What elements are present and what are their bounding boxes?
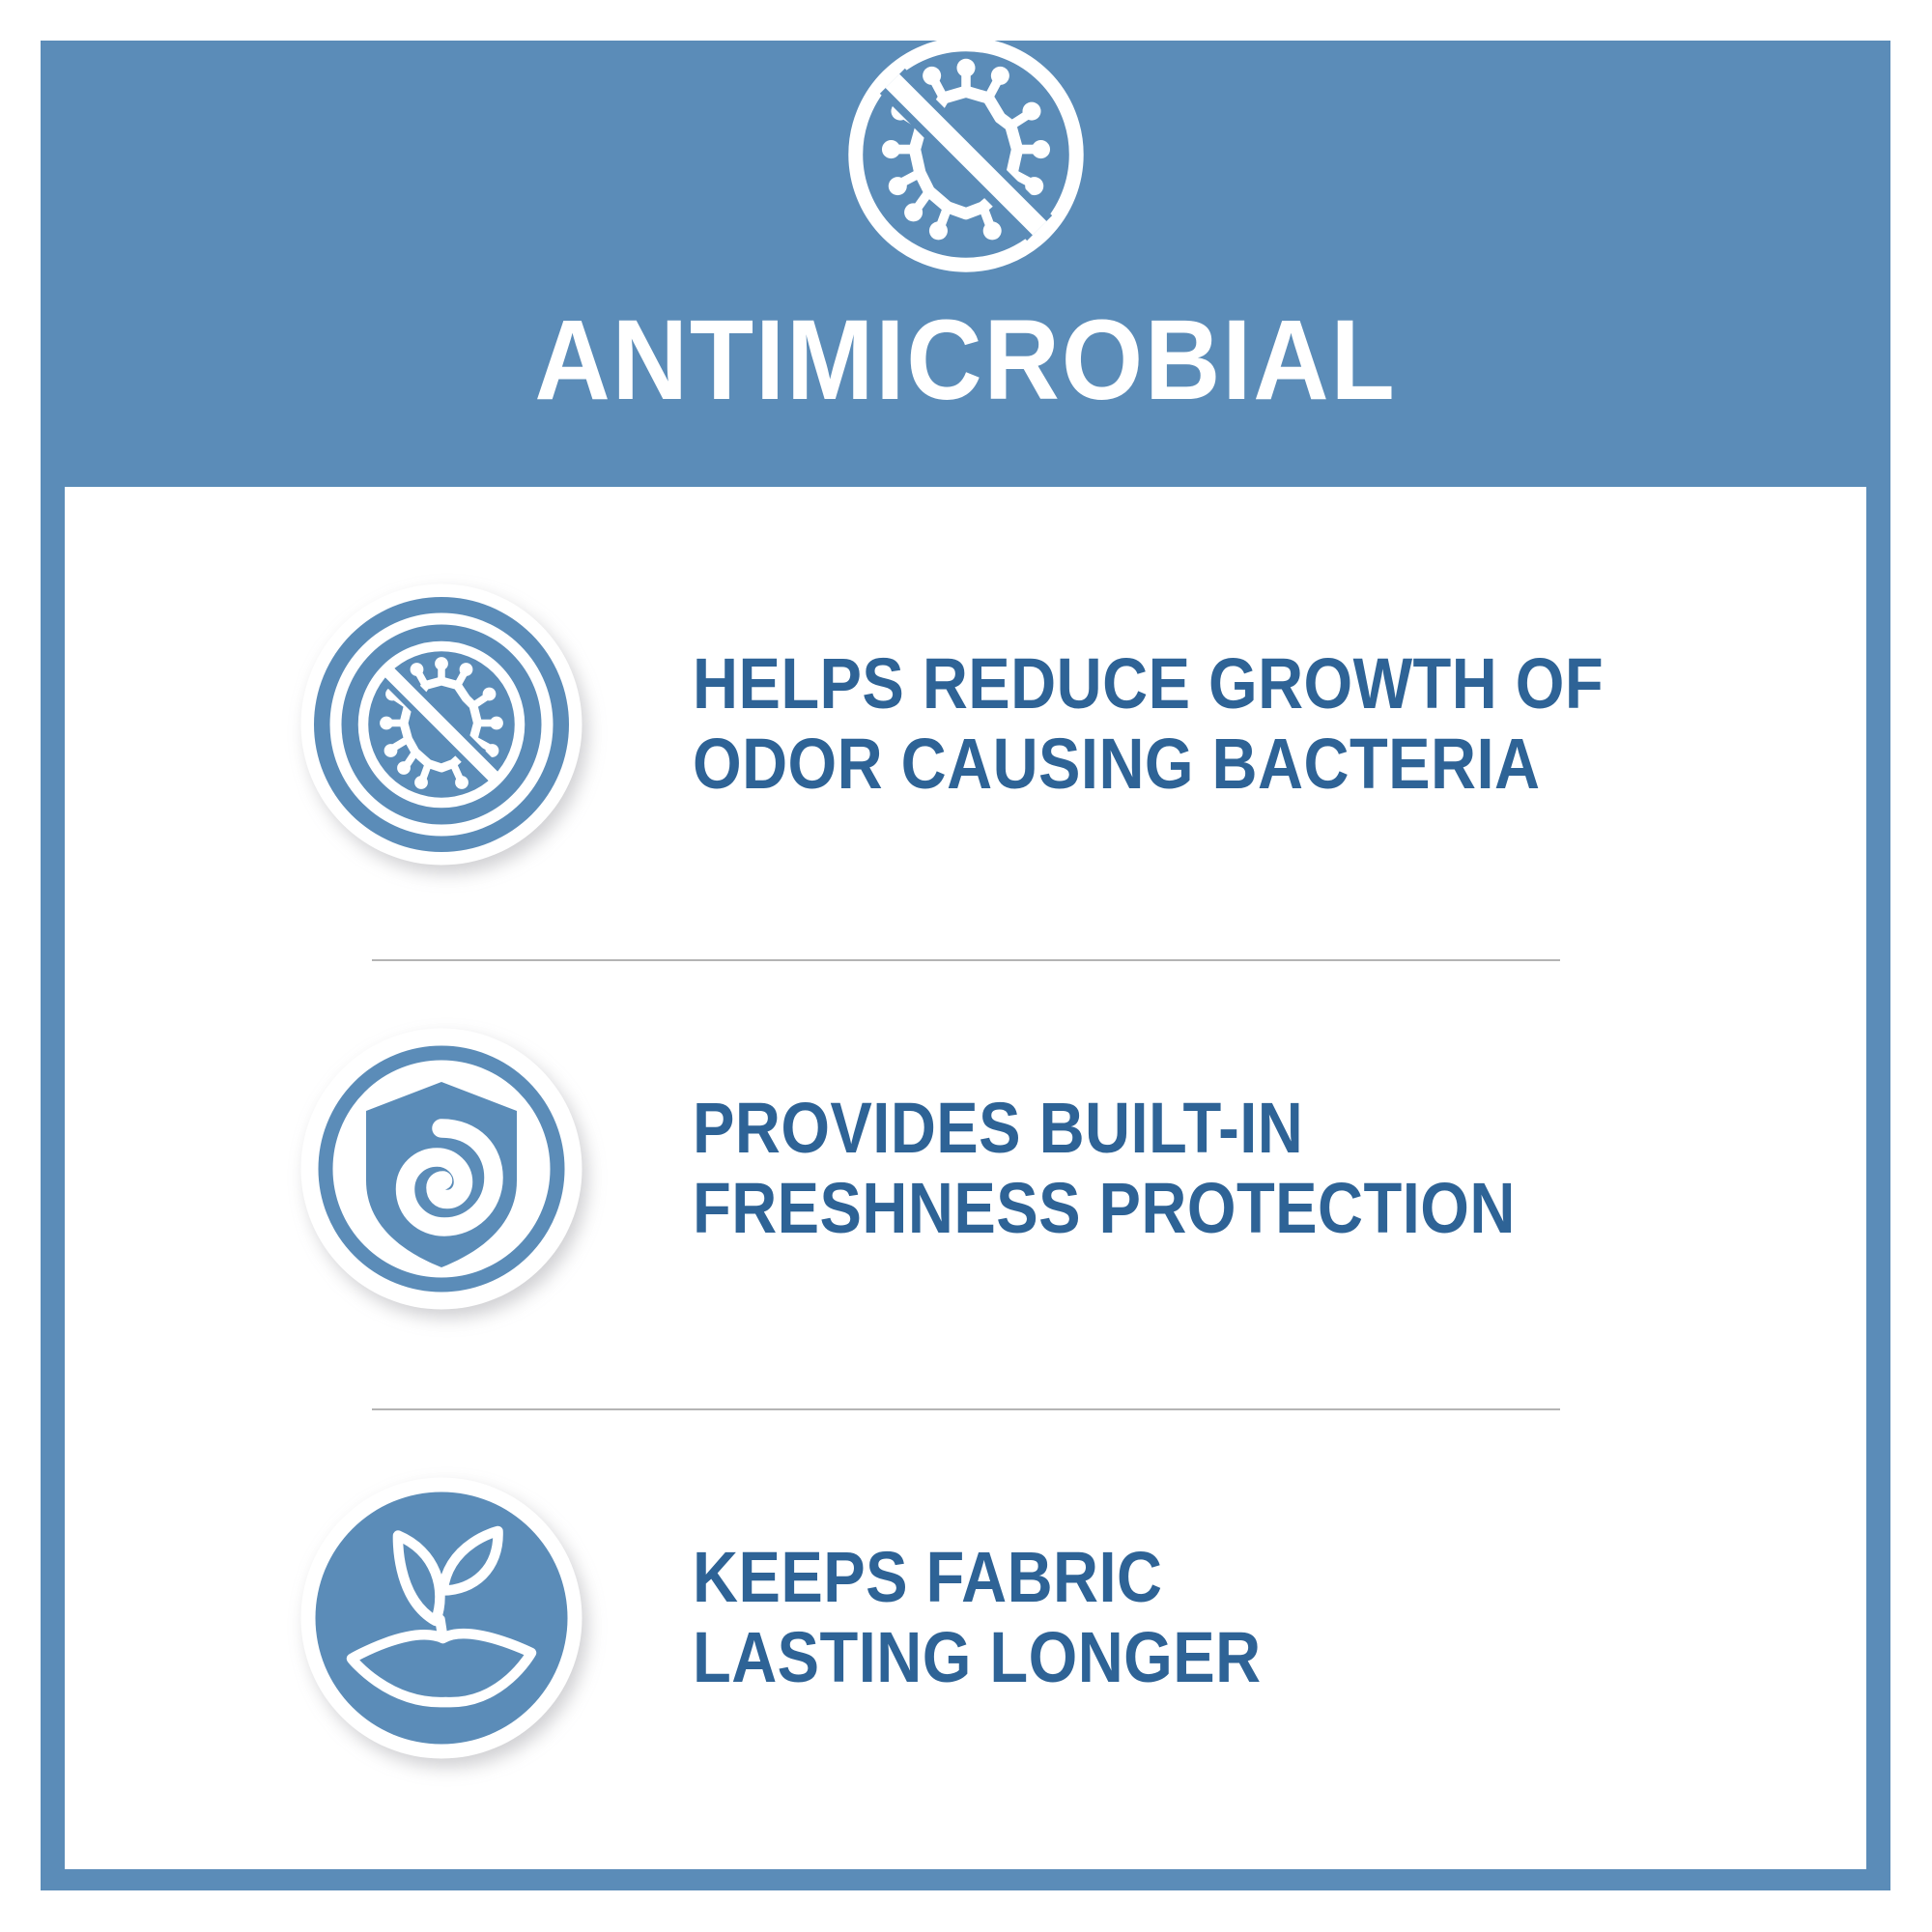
features-panel: HELPS REDUCE GROWTH OF ODOR CAUSING BACT… [65, 488, 1866, 1869]
leaf-sprout-icon [297, 1473, 586, 1763]
features-list: HELPS REDUCE GROWTH OF ODOR CAUSING BACT… [65, 488, 1866, 1869]
no-germs-circle-icon [297, 580, 586, 869]
header-band: ANTIMICROBIAL [41, 41, 1890, 487]
antimicrobial-infographic: ANTIMICROBIAL [0, 0, 1932, 1932]
feature-line: FRESHNESS PROTECTION [693, 1169, 1725, 1249]
feature-text: HELPS REDUCE GROWTH OF ODOR CAUSING BACT… [693, 644, 1725, 805]
shield-swirl-icon [297, 1024, 586, 1314]
feature-text: PROVIDES BUILT-IN FRESHNESS PROTECTION [693, 1089, 1725, 1249]
feature-row: PROVIDES BUILT-IN FRESHNESS PROTECTION [65, 961, 1866, 1377]
feature-line: PROVIDES BUILT-IN [693, 1089, 1725, 1169]
feature-line: HELPS REDUCE GROWTH OF [693, 644, 1725, 724]
feature-text: KEEPS FABRIC LASTING LONGER [693, 1538, 1725, 1698]
feature-row: KEEPS FABRIC LASTING LONGER [65, 1410, 1866, 1826]
no-germs-icon [835, 23, 1097, 286]
feature-line: LASTING LONGER [693, 1618, 1725, 1698]
feature-line: KEEPS FABRIC [693, 1538, 1725, 1618]
feature-row: HELPS REDUCE GROWTH OF ODOR CAUSING BACT… [65, 517, 1866, 932]
page-title: ANTIMICROBIAL [115, 303, 1817, 417]
feature-line: ODOR CAUSING BACTERIA [693, 724, 1725, 805]
